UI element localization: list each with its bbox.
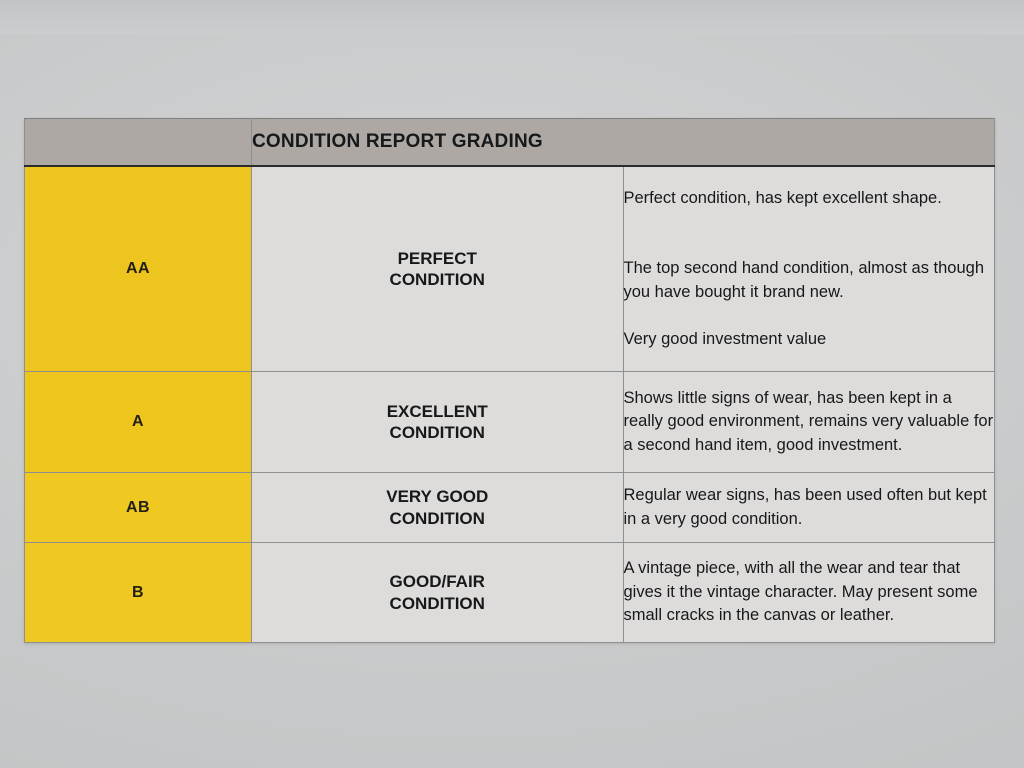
table-row: AB VERY GOOD CONDITION Regular wear sign…: [25, 473, 995, 543]
grade-cell-aa: AA: [25, 166, 252, 372]
grade-label: AA: [126, 260, 150, 277]
condition-report-grading-table: CONDITION REPORT GRADING AA PERFECT COND…: [24, 118, 995, 643]
description-text: Regular wear signs, has been used often …: [624, 486, 987, 527]
grade-cell-a: A: [25, 372, 252, 473]
grade-label: A: [132, 413, 144, 430]
description-text: A vintage piece, with all the wear and t…: [624, 559, 978, 624]
table-row: B GOOD/FAIR CONDITION A vintage piece, w…: [25, 543, 995, 643]
header-title-cell: CONDITION REPORT GRADING: [252, 119, 995, 167]
table-header: CONDITION REPORT GRADING: [25, 119, 995, 167]
condition-name: PERFECT CONDITION: [390, 249, 485, 289]
table-row: A EXCELLENT CONDITION Shows little signs…: [25, 372, 995, 473]
condition-name: GOOD/FAIR CONDITION: [390, 572, 485, 612]
grade-label: AB: [126, 499, 150, 516]
description-text: Shows little signs of wear, has been kep…: [624, 389, 994, 454]
grade-cell-b: B: [25, 543, 252, 643]
condition-name-cell-a: EXCELLENT CONDITION: [252, 372, 624, 473]
page-title: CONDITION REPORT GRADING: [252, 131, 543, 152]
header-row: CONDITION REPORT GRADING: [25, 119, 995, 167]
table-row: AA PERFECT CONDITION Perfect condition, …: [25, 166, 995, 372]
condition-name: EXCELLENT CONDITION: [387, 402, 488, 442]
condition-name: VERY GOOD CONDITION: [386, 487, 488, 527]
description-cell-a: Shows little signs of wear, has been kep…: [623, 372, 995, 473]
header-blank-cell: [25, 119, 252, 167]
grade-label: B: [132, 584, 144, 601]
condition-name-cell-aa: PERFECT CONDITION: [252, 166, 624, 372]
description-cell-ab: Regular wear signs, has been used often …: [623, 473, 995, 543]
description-cell-b: A vintage piece, with all the wear and t…: [623, 543, 995, 643]
grade-cell-ab: AB: [25, 473, 252, 543]
table-body: AA PERFECT CONDITION Perfect condition, …: [25, 166, 995, 643]
description-cell-aa: Perfect condition, has kept excellent sh…: [623, 166, 995, 372]
page-top-shadow: [0, 0, 1024, 34]
description-text: Perfect condition, has kept excellent sh…: [624, 189, 985, 348]
condition-name-cell-b: GOOD/FAIR CONDITION: [252, 543, 624, 643]
condition-name-cell-ab: VERY GOOD CONDITION: [252, 473, 624, 543]
